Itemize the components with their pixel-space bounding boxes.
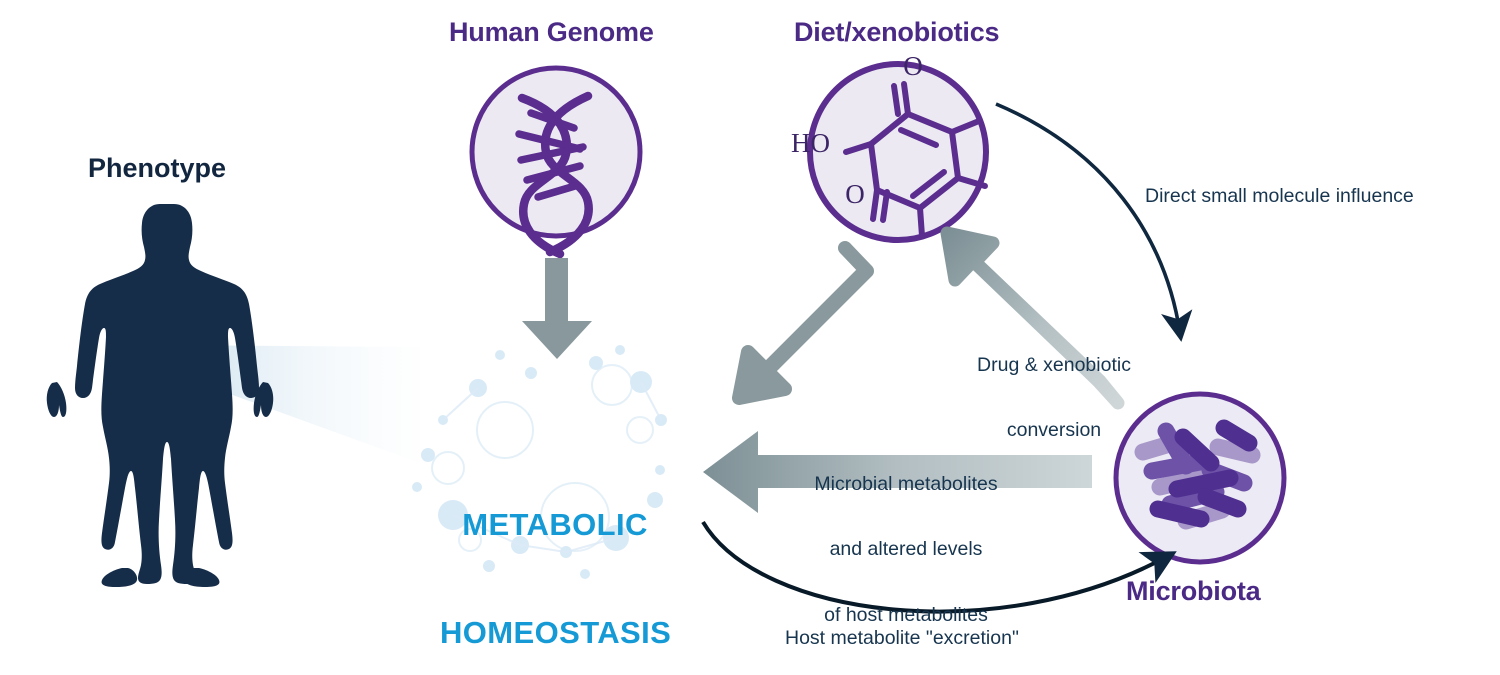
diet-xenobiotics-label: Diet/xenobiotics: [794, 17, 999, 47]
host-metabolite-excretion-label: Host metabolite "excretion": [785, 628, 1019, 650]
direct-small-molecule-influence-label: Direct small molecule influence: [1145, 186, 1414, 208]
homeostasis-line-1: METABOLIC: [440, 507, 670, 543]
diet-to-microbiota-curve: [996, 104, 1180, 333]
microbial-metabolites-line-3: of host metabolites: [786, 605, 1026, 627]
microbiota-label: Microbiota: [1126, 576, 1261, 606]
human-genome-label: Human Genome: [449, 17, 654, 47]
phenotype-label: Phenotype: [88, 153, 226, 183]
microbial-metabolites-line-2: and altered levels: [786, 539, 1026, 561]
metabolic-homeostasis-text: METABOLIC HOMEOSTASIS: [440, 435, 670, 675]
homeostasis-line-2: HOMEOSTASIS: [440, 615, 670, 651]
curved-arrows-layer: [0, 0, 1500, 675]
microbial-metabolites-line-1: Microbial metabolites: [786, 474, 1026, 496]
diagram-canvas: O HO O: [0, 0, 1500, 675]
drug-conversion-line-1: Drug & xenobiotic: [963, 355, 1145, 377]
